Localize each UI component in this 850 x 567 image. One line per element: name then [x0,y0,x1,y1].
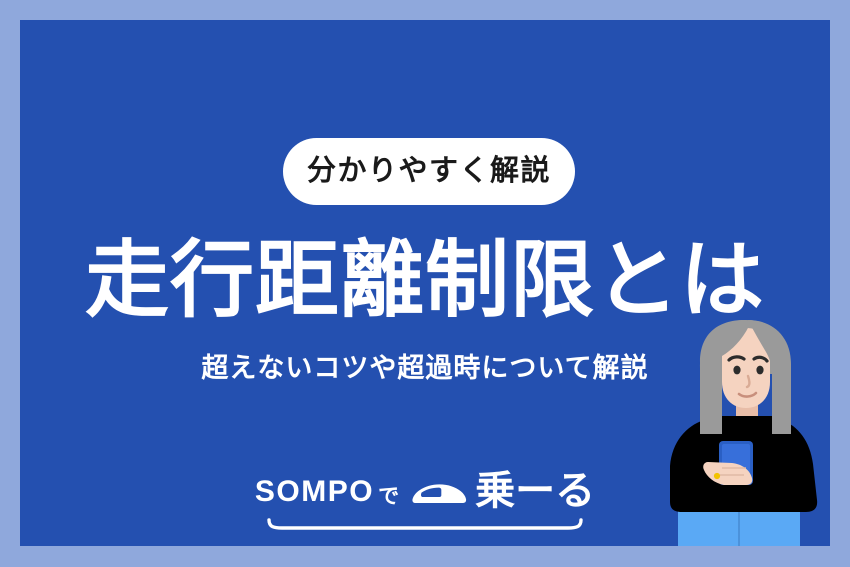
brand-name-sompo: SOMPO [255,477,374,507]
brand-service-noru: 乗ーる [475,471,595,511]
badge-label: 分かりやすく解説 [307,157,551,186]
brand-particle-de: で [378,486,399,507]
page-title: 走行距離制限とは [20,238,830,322]
woman-with-smartphone-illustration [660,316,830,546]
article-thumbnail-banner: 分かりやすく解説 走行距離制限とは 超えないコツや超過時について解説 SOMPO… [0,0,850,567]
car-icon [411,479,467,514]
brand-logo-row: SOMPO で 乗ーる [255,472,595,512]
logo-underline-icon [266,516,584,535]
banner-inner-panel: 分かりやすく解説 走行距離制限とは 超えないコツや超過時について解説 SOMPO… [20,20,830,546]
badge-pill: 分かりやすく解説 [283,138,575,205]
